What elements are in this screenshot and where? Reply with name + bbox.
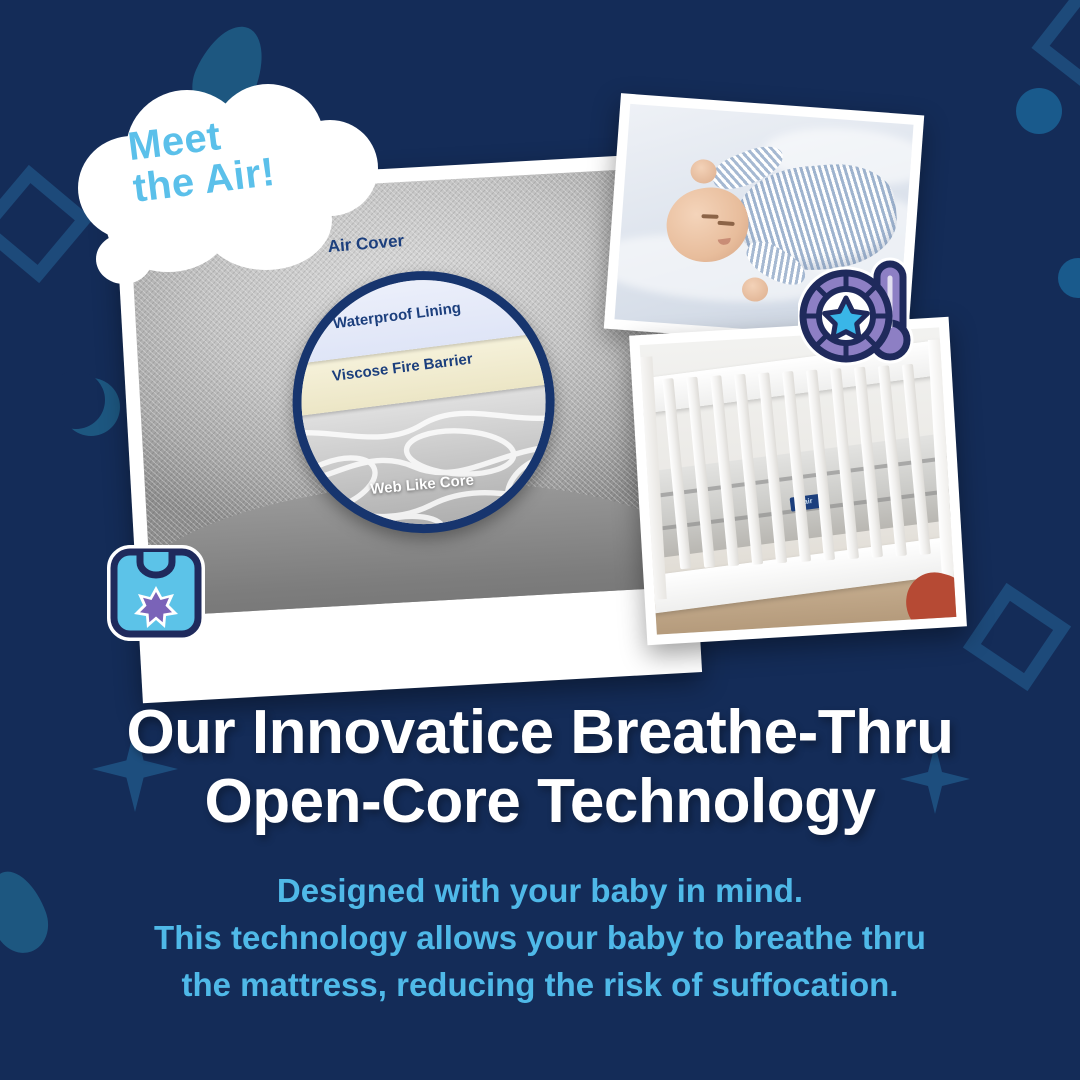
page-title: Our Innovatice Breathe-Thru Open-Core Te… (0, 698, 1080, 837)
subtext-line2: This technology allows your baby to brea… (0, 915, 1080, 962)
moon-deco-left (62, 378, 120, 436)
crib-photo: air (640, 327, 957, 634)
subtext-line1: Designed with your baby in mind. (0, 868, 1080, 915)
cloud-speech-bubble: Meet the Air! (78, 84, 378, 280)
diamond-deco-topright (1031, 0, 1080, 105)
poster-canvas: Air Cover (0, 0, 1080, 1080)
baby-bib-icon (96, 534, 216, 654)
diamond-deco-bottomright (963, 583, 1071, 691)
dot-deco-topright (1016, 88, 1062, 134)
subtitle-block: Designed with your baby in mind. This te… (0, 868, 1080, 1009)
subtext-line3: the mattress, reducing the risk of suffo… (0, 962, 1080, 1009)
headline-line2: Open-Core Technology (0, 767, 1080, 836)
bib-neck (140, 552, 172, 575)
baby-bib-sticker (96, 534, 216, 654)
dot-deco-right (1058, 258, 1080, 298)
cloud-puff-tail (96, 234, 152, 284)
rattle-thermometer-icon (798, 248, 936, 370)
magnifier-contents: Waterproof Lining Viscose Fire Barrier W… (295, 273, 552, 530)
baby-eye-left (702, 214, 719, 219)
magnifier-circle: Waterproof Lining Viscose Fire Barrier W… (285, 264, 561, 540)
rattle-thermometer-sticker (798, 248, 936, 370)
headline-line1: Our Innovatice Breathe-Thru (0, 698, 1080, 767)
baby-eye-right (718, 220, 735, 225)
baby-mouth (718, 238, 732, 246)
